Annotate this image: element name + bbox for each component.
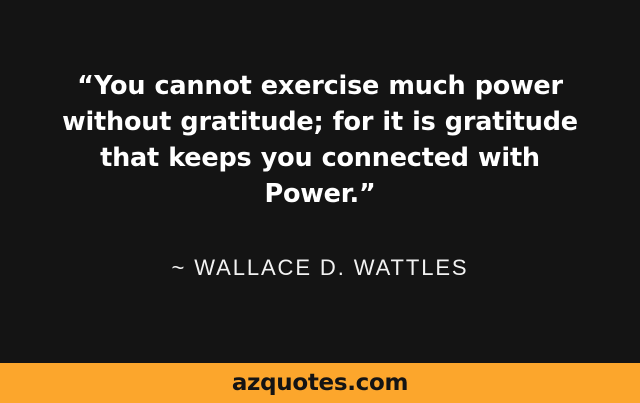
brand-watermark: azquotes.com — [232, 372, 408, 395]
quote-attribution: ~ WALLACE D. WATTLES — [40, 254, 600, 282]
quote-card: “You cannot exercise much power without … — [0, 0, 640, 403]
quote-card-body: “You cannot exercise much power without … — [0, 0, 640, 403]
footer-bar: azquotes.com — [0, 363, 640, 403]
quote-text: “You cannot exercise much power without … — [56, 68, 584, 212]
